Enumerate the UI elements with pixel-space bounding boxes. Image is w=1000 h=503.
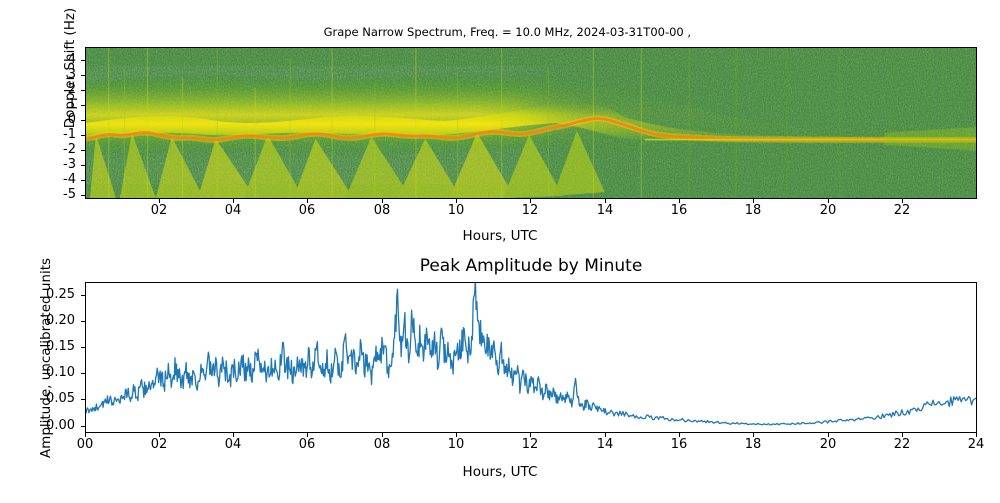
- amplitude-xtick-24: 24: [959, 437, 993, 453]
- spectrogram-ytickmark: [81, 195, 85, 196]
- spectrogram-xtick-18: 18: [736, 203, 770, 219]
- spectrogram-ytick-4: 4: [44, 53, 76, 67]
- spectrogram-xtick-16: 16: [662, 203, 696, 219]
- amplitude-line-series: [86, 283, 976, 432]
- spectrogram-ytickmark: [81, 60, 85, 61]
- spectrogram-ytick-m5: -5: [44, 188, 76, 202]
- spectrogram-xtickmark: [605, 199, 606, 203]
- spectrogram-ytickmark: [81, 180, 85, 181]
- spectrogram-ytick-m1: -1: [44, 128, 76, 142]
- amplitude-xtickmark: [85, 433, 86, 437]
- amplitude-plot-area: [85, 282, 977, 433]
- amplitude-polyline: [86, 283, 976, 425]
- amplitude-xtick-12: 12: [513, 437, 547, 453]
- amplitude-xtickmark: [753, 433, 754, 437]
- spectrogram-xtickmark: [753, 199, 754, 203]
- amplitude-xtickmark: [530, 433, 531, 437]
- spectrogram-ytickmark: [81, 165, 85, 166]
- spectrogram-xtickmark: [902, 199, 903, 203]
- spectrogram-ytickmark: [81, 120, 85, 121]
- spectrogram-ytickmark: [81, 150, 85, 151]
- amplitude-ytickmark: [81, 399, 85, 400]
- amplitude-ytickmark: [81, 295, 85, 296]
- spectrogram-xtickmark: [307, 199, 308, 203]
- spectrogram-ytickmark: [81, 90, 85, 91]
- amplitude-ytickmark: [81, 426, 85, 427]
- spectrogram-ytickmark: [81, 75, 85, 76]
- spectrogram-xtick-12: 12: [513, 203, 547, 219]
- amplitude-xtickmark: [382, 433, 383, 437]
- amplitude-ytick-0.15: 0.15: [33, 340, 75, 354]
- spectrogram-xtick-08: 08: [365, 203, 399, 219]
- amplitude-xtickmark: [605, 433, 606, 437]
- spectrogram-xtickmark: [456, 199, 457, 203]
- spectrogram-ytick-3: 3: [44, 68, 76, 82]
- amplitude-xtickmark: [902, 433, 903, 437]
- amplitude-ytickmark: [81, 347, 85, 348]
- amplitude-ytick-0.25: 0.25: [33, 288, 75, 302]
- suptitle-line-1: Grape Narrow Spectrum, Freq. = 10.0 MHz,…: [324, 25, 692, 39]
- spectrogram-xtick-06: 06: [290, 203, 324, 219]
- amplitude-xtick-20: 20: [811, 437, 845, 453]
- amplitude-xtick-02: 02: [142, 437, 176, 453]
- spectrogram-plot-area: [85, 47, 977, 199]
- spectrogram-ytick-m3: -3: [44, 158, 76, 172]
- amplitude-xtickmark: [233, 433, 234, 437]
- spectrogram-xtickmark: [679, 199, 680, 203]
- spectrogram-ytick-m4: -4: [44, 173, 76, 187]
- spectrogram-image: [86, 48, 976, 198]
- amplitude-xtick-00: 00: [68, 437, 102, 453]
- amplitude-xtick-10: 10: [439, 437, 473, 453]
- spectrogram-xtick-20: 20: [811, 203, 845, 219]
- spectrogram-xtickmark: [382, 199, 383, 203]
- spectrogram-ytick-1: 1: [44, 98, 76, 112]
- amplitude-ytickmark: [81, 373, 85, 374]
- amplitude-xtick-18: 18: [736, 437, 770, 453]
- spectrogram-xtickmark: [828, 199, 829, 203]
- spectrogram-ytickmark: [81, 105, 85, 106]
- amplitude-xtickmark: [679, 433, 680, 437]
- amplitude-xtickmark: [456, 433, 457, 437]
- amplitude-xtick-16: 16: [662, 437, 696, 453]
- spectrogram-xtick-02: 02: [142, 203, 176, 219]
- amplitude-y-axis-label: Amplitude, uncalibrated units: [38, 213, 58, 503]
- amplitude-xtickmark: [828, 433, 829, 437]
- spectrogram-xtickmark: [159, 199, 160, 203]
- amplitude-ytick-0.05: 0.05: [33, 392, 75, 406]
- amplitude-ytick-0.10: 0.10: [33, 366, 75, 380]
- amplitude-xtick-14: 14: [588, 437, 622, 453]
- spectrogram-ytickmark: [81, 135, 85, 136]
- amplitude-xtickmark: [976, 433, 977, 437]
- amplitude-ytickmark: [81, 321, 85, 322]
- amplitude-x-axis-label: Hours, UTC: [0, 464, 1000, 480]
- figure-canvas: Grape Narrow Spectrum, Freq. = 10.0 MHz,…: [0, 0, 1000, 500]
- spectrogram-ytick-2: 2: [44, 83, 76, 97]
- spectrogram-ytick-m2: -2: [44, 143, 76, 157]
- amplitude-xtickmark: [159, 433, 160, 437]
- spectrogram-x-axis-label: Hours, UTC: [0, 228, 1000, 244]
- spectrogram-xtick-14: 14: [588, 203, 622, 219]
- spectrogram-xtickmark: [530, 199, 531, 203]
- amplitude-chart-title: Peak Amplitude by Minute: [85, 256, 977, 276]
- amplitude-xtick-06: 06: [290, 437, 324, 453]
- amplitude-ytick-0.20: 0.20: [33, 314, 75, 328]
- spectrogram-xtick-04: 04: [216, 203, 250, 219]
- amplitude-xtick-08: 08: [365, 437, 399, 453]
- spectrogram-xtick-10: 10: [439, 203, 473, 219]
- spectrogram-xtick-22: 22: [885, 203, 919, 219]
- spectrogram-xtickmark: [233, 199, 234, 203]
- spectrogram-ytick-0: 0: [44, 113, 76, 127]
- amplitude-xtick-04: 04: [216, 437, 250, 453]
- amplitude-xtick-22: 22: [885, 437, 919, 453]
- amplitude-xtickmark: [307, 433, 308, 437]
- amplitude-ytick-0.00: 0.00: [33, 419, 75, 433]
